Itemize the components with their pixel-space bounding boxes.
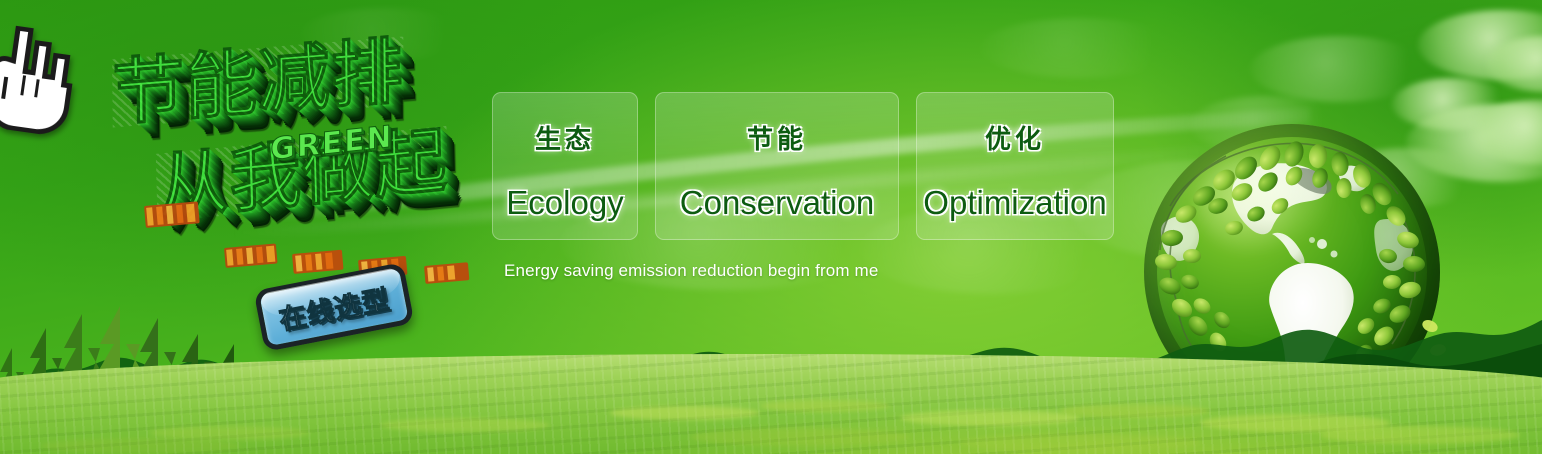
globe-highlight (1197, 154, 1333, 255)
tagline: Energy saving emission reduction begin f… (504, 261, 878, 281)
feature-card-cn-label: 生态 (535, 119, 595, 156)
feature-card-ecology[interactable]: 生态 Ecology (492, 92, 638, 240)
feature-cards: 生态 Ecology 节能 Conservation 优化 Optimizati… (492, 92, 1114, 240)
feature-card-cn-label: 节能 (747, 119, 807, 156)
feature-card-conservation[interactable]: 节能 Conservation (655, 92, 899, 240)
grass-detail-blobs (0, 376, 1542, 454)
feature-card-optimization[interactable]: 优化 Optimization (916, 92, 1114, 240)
eco-promo-banner: 节能减排 从我做起 GREEN (0, 0, 1542, 454)
grass-field-icon (0, 350, 1542, 454)
headline-line-1: 节能减排 (112, 36, 404, 127)
feature-card-cn-label: 优化 (985, 119, 1045, 156)
headline-line-1-wrap: 节能减排 (112, 36, 404, 127)
feature-card-en-label: Ecology (506, 184, 623, 222)
pointing-hand-cursor-icon (0, 22, 83, 138)
feature-card-en-label: Conservation (680, 184, 874, 222)
headline-3d-text: 节能减排 从我做起 GREEN (104, 42, 484, 264)
cloud (1250, 36, 1430, 102)
feature-card-en-label: Optimization (923, 184, 1106, 222)
cloud (980, 18, 1180, 78)
